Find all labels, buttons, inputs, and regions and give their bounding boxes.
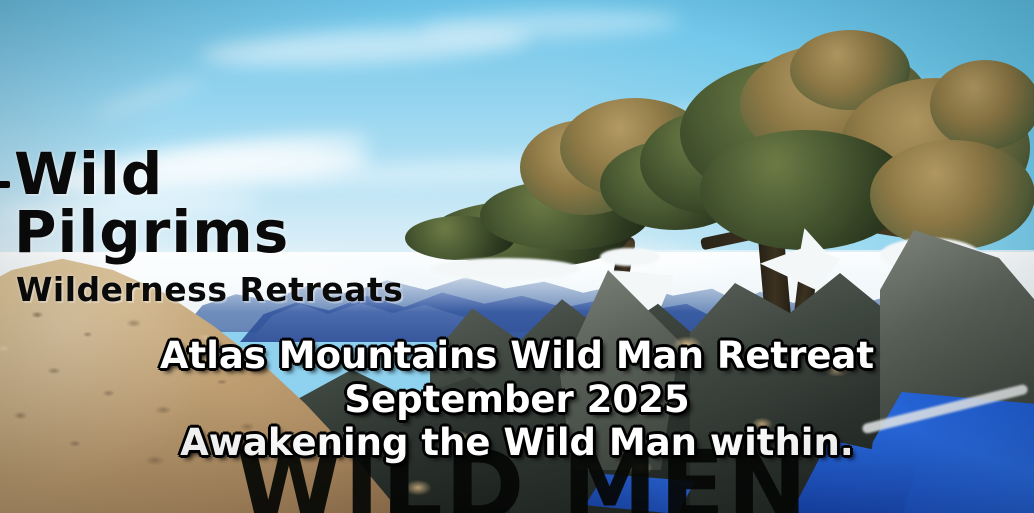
- brand-tagline: Wilderness Retreats: [0, 273, 420, 306]
- headline-line-2: September 2025: [0, 378, 1034, 422]
- headline-line-1: Atlas Mountains Wild Man Retreat: [0, 334, 1034, 378]
- retreat-poster: WILD MEN Wild Pilgrims Wilderness Retrea…: [0, 0, 1034, 513]
- brand-name: Wild Pilgrims: [0, 145, 420, 261]
- brand-logo: Wild Pilgrims Wilderness Retreats: [0, 145, 420, 306]
- snow-patch: [600, 248, 660, 266]
- snow-patch: [430, 258, 580, 280]
- logo-accent-mark: [0, 181, 10, 188]
- headline-line-3: Awakening the Wild Man within.: [0, 421, 1034, 465]
- headline-block: Atlas Mountains Wild Man Retreat Septemb…: [0, 334, 1034, 465]
